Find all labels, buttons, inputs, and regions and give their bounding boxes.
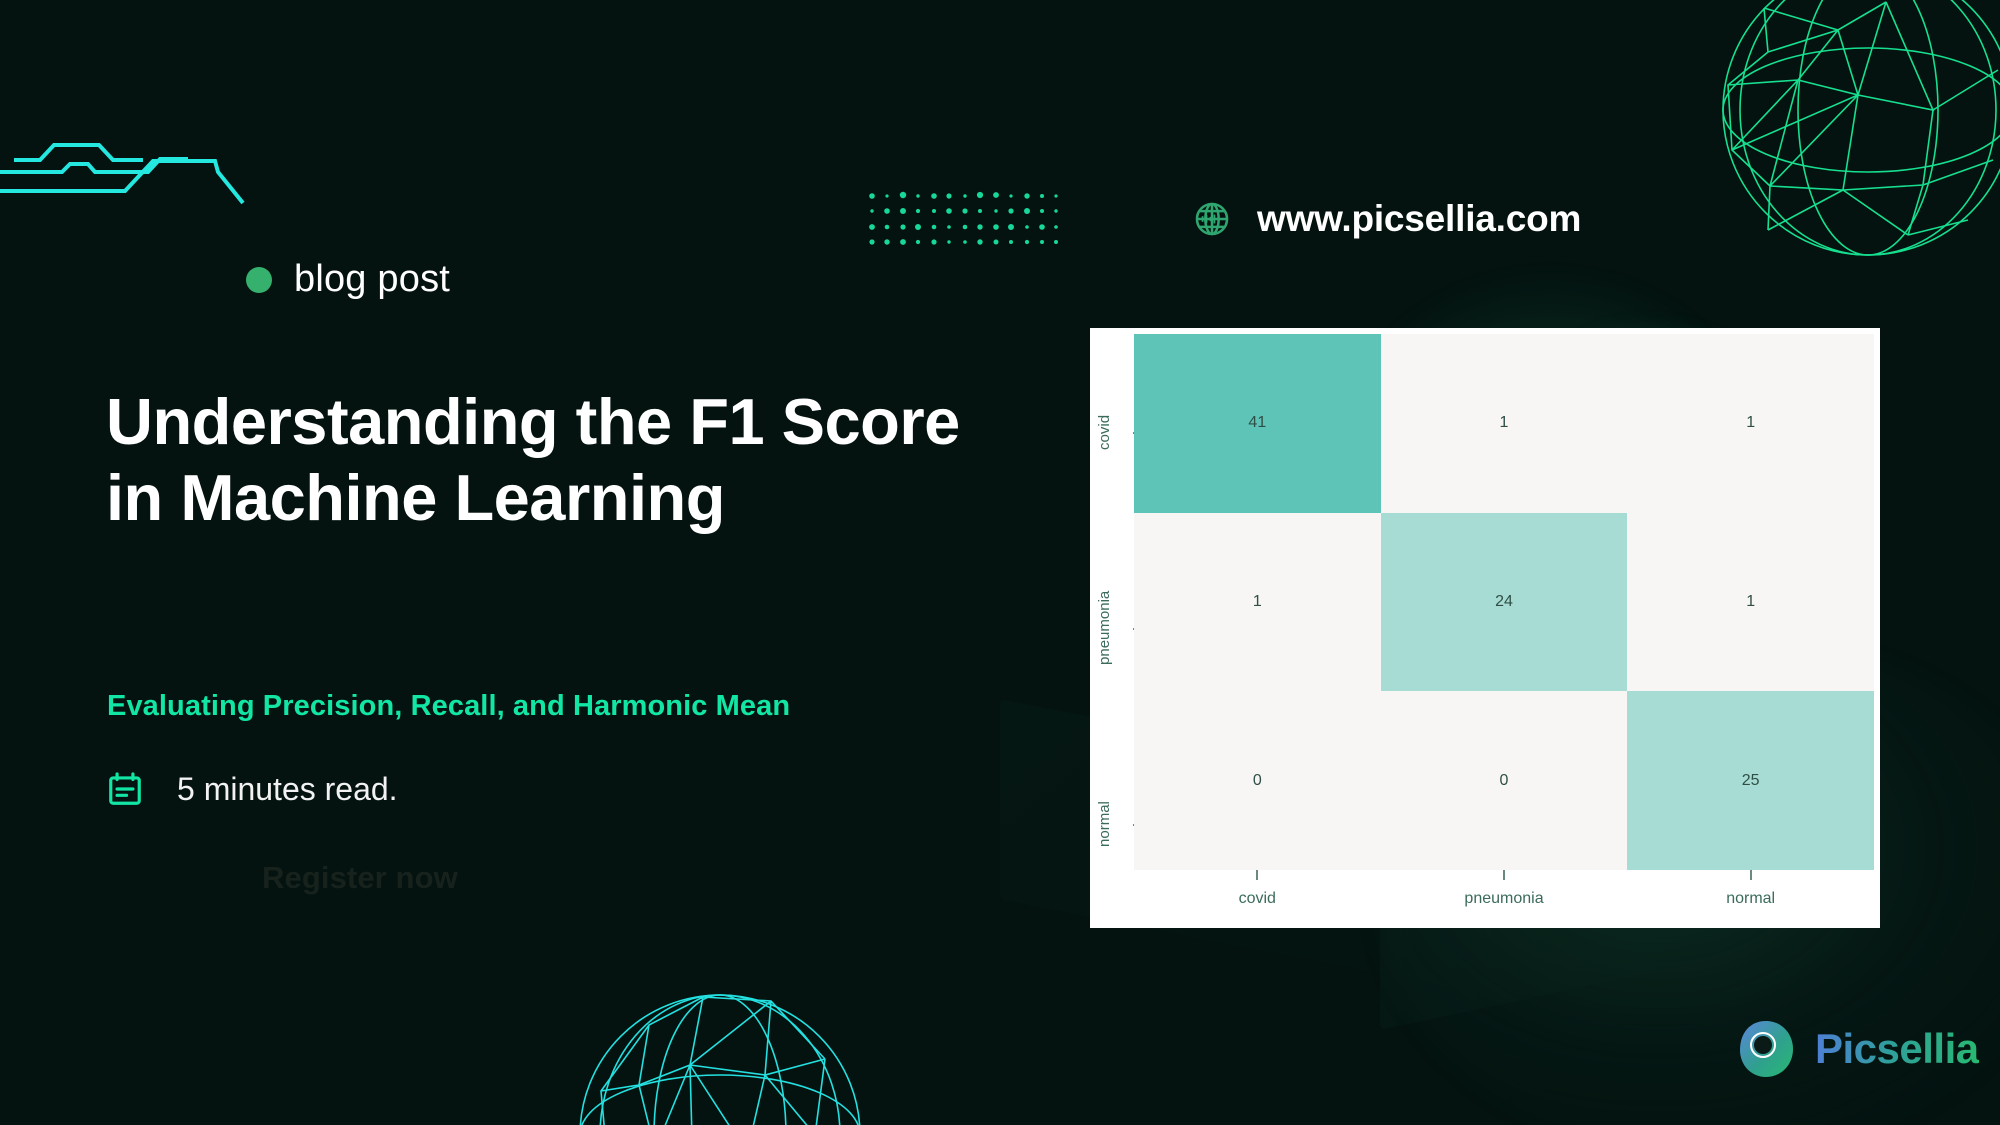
- y-axis: covid pneumonia normal: [1096, 334, 1134, 922]
- x-axis-label-1: pneumonia: [1464, 890, 1543, 908]
- picsellia-wordmark: Picsellia: [1815, 1025, 1979, 1073]
- register-now-button[interactable]: Register now: [262, 860, 458, 896]
- heatmap-cell: 0: [1381, 691, 1628, 870]
- confusion-matrix-figure: covid pneumonia normal 41 1 1: [1090, 328, 1880, 928]
- kicker-row: blog post: [246, 258, 450, 301]
- heatmap-plot-area: 41 1 1 1 24 1 0 0 25: [1134, 334, 1874, 870]
- x-axis-tick-2: [1750, 870, 1752, 880]
- wireframe-sphere-bottom: [575, 935, 865, 1125]
- poster-canvas: blog post Understanding the F1 Score in …: [0, 0, 2000, 1125]
- calendar-icon: [106, 770, 144, 808]
- heatmap-cell: 1: [1381, 334, 1628, 513]
- heatmap-cell: 1: [1134, 513, 1381, 692]
- picsellia-logo[interactable]: Picsellia: [1735, 1018, 1979, 1080]
- globe-icon: [1193, 200, 1231, 238]
- heatmap-cell: 24: [1381, 513, 1628, 692]
- heatmap-cell: 0: [1134, 691, 1381, 870]
- y-axis-label-1: pneumonia: [1096, 530, 1134, 726]
- x-axis-label-2: normal: [1726, 890, 1775, 908]
- dot-grid-decoration: [866, 190, 1066, 258]
- y-axis-label-2: normal: [1096, 726, 1134, 922]
- website-url-row[interactable]: www.picsellia.com: [1193, 198, 1581, 240]
- y-axis-label-0: covid: [1096, 334, 1134, 530]
- heatmap-cell: 25: [1627, 691, 1874, 870]
- circuit-lines-decoration: [0, 125, 270, 235]
- x-axis: covid pneumonia normal: [1134, 870, 1874, 922]
- x-axis-tick-1: [1503, 870, 1505, 880]
- bullet-dot-icon: [246, 267, 272, 293]
- x-axis-label-0: covid: [1239, 890, 1276, 908]
- kicker-label: blog post: [294, 258, 450, 301]
- heatmap-cell: 41: [1134, 334, 1381, 513]
- read-time-label: 5 minutes read.: [177, 771, 398, 808]
- wireframe-sphere-top-right: [1718, 0, 2000, 290]
- read-time-row: 5 minutes read.: [106, 770, 398, 808]
- heatmap-cell: 1: [1627, 513, 1874, 692]
- website-url-label: www.picsellia.com: [1257, 198, 1581, 240]
- picsellia-blob-icon: [1735, 1018, 1797, 1080]
- page-title: Understanding the F1 Score in Machine Le…: [106, 384, 1006, 536]
- heatmap-cell: 1: [1627, 334, 1874, 513]
- page-subtitle: Evaluating Precision, Recall, and Harmon…: [107, 690, 790, 723]
- x-axis-tick-0: [1256, 870, 1258, 880]
